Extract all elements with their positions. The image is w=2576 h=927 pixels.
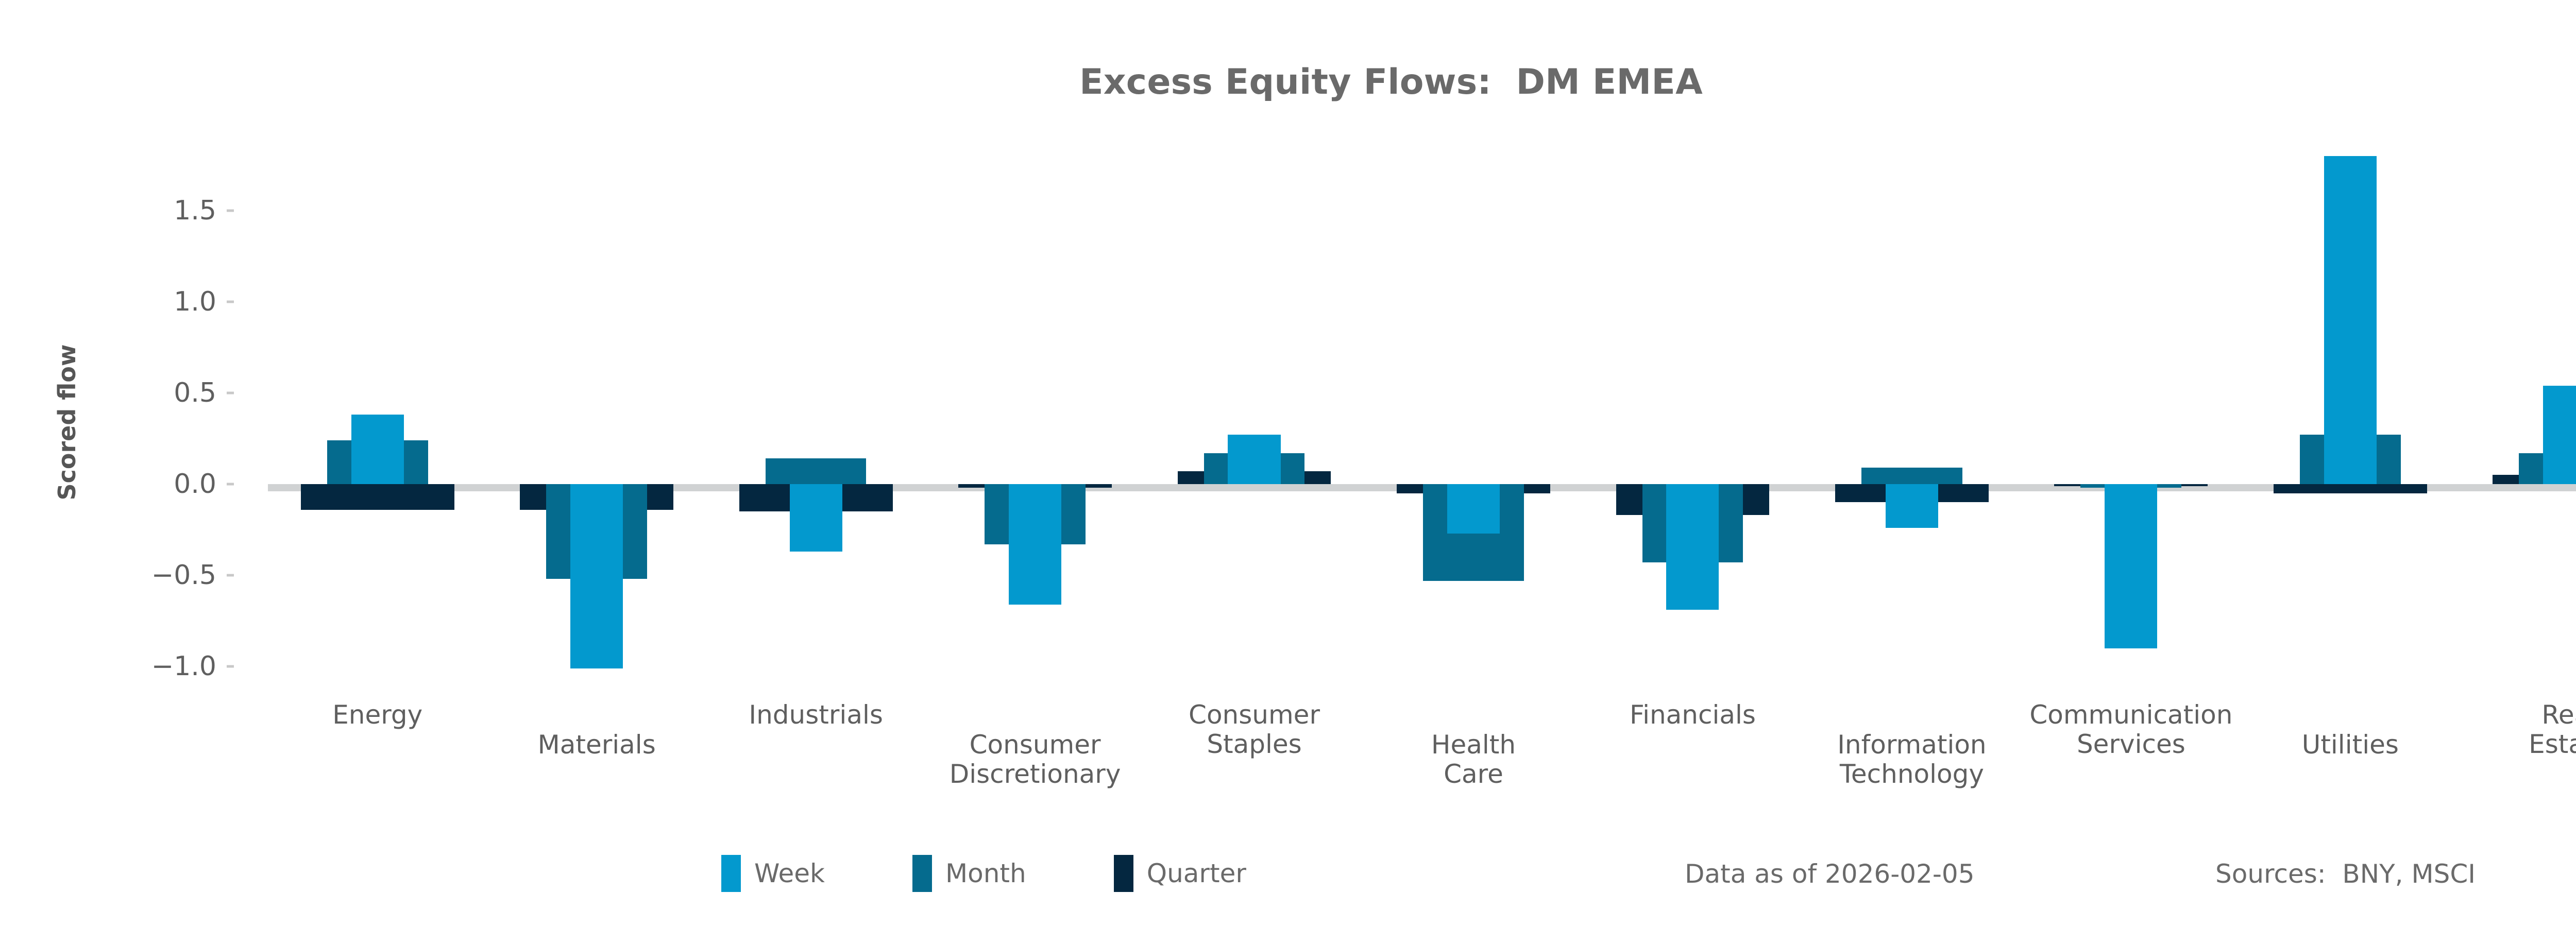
bar-week	[1009, 484, 1061, 605]
y-tick-label: 0.0	[88, 469, 216, 500]
y-axis-label: Scored flow	[53, 344, 81, 500]
bar-quarter	[2274, 484, 2427, 493]
legend-item-week[interactable]: Week	[721, 855, 825, 892]
bar-week	[1447, 484, 1500, 534]
bar-quarter	[301, 484, 454, 510]
x-tick-label: Materials	[538, 730, 656, 760]
bar-group	[487, 154, 706, 690]
y-tick-label: 1.0	[88, 286, 216, 317]
bar-week	[1666, 484, 1719, 610]
legend-swatch-icon	[721, 855, 741, 892]
x-tick-label: Information Technology	[1837, 730, 1986, 789]
data-as-of-note: Data as of 2026-02-05	[1685, 859, 1975, 889]
bar-week	[1886, 484, 1938, 528]
x-tick-label: Consumer Discretionary	[950, 730, 1121, 789]
chart-legend: WeekMonthQuarter	[721, 855, 1334, 892]
bar-week	[1228, 435, 1280, 484]
chart-figure: Excess Equity Flows: DM EMEA Scored flow…	[0, 0, 2576, 927]
bar-group	[925, 154, 1144, 690]
plot-area	[268, 154, 2576, 690]
bar-group	[2241, 154, 2460, 690]
legend-item-month[interactable]: Month	[912, 855, 1026, 892]
y-tick-label: −0.5	[88, 560, 216, 591]
sources-note: Sources: BNY, MSCI	[2215, 859, 2476, 889]
x-tick-label: Financials	[1630, 700, 1756, 730]
bar-month	[766, 458, 867, 484]
x-tick-label: Health Care	[1431, 730, 1516, 789]
bar-week	[790, 484, 842, 552]
chart-title: Excess Equity Flows: DM EMEA	[0, 62, 2576, 102]
y-tick-mark	[227, 210, 234, 212]
chart-footer: WeekMonthQuarter Data as of 2026-02-05 S…	[0, 855, 2576, 912]
bar-group	[2022, 154, 2241, 690]
legend-swatch-icon	[1114, 855, 1133, 892]
bar-week	[2324, 156, 2377, 484]
x-axis-tick-labels: EnergyMaterialsIndustrialsConsumer Discr…	[0, 700, 2576, 829]
bar-group	[706, 154, 925, 690]
legend-label: Month	[945, 859, 1026, 888]
y-tick-mark	[227, 665, 234, 668]
bar-week	[570, 484, 623, 668]
x-tick-label: Industrials	[749, 700, 883, 730]
y-tick-mark	[227, 301, 234, 303]
legend-swatch-icon	[912, 855, 932, 892]
y-tick-label: −1.0	[88, 651, 216, 682]
legend-label: Quarter	[1147, 859, 1246, 888]
bar-week	[2543, 386, 2576, 484]
y-tick-mark	[227, 483, 234, 486]
x-tick-label: Communication Services	[2029, 700, 2232, 759]
y-tick-label: 1.5	[88, 195, 216, 226]
x-tick-label: Real Estate	[2529, 700, 2576, 759]
bar-group	[1145, 154, 1364, 690]
y-tick-mark	[227, 574, 234, 577]
bar-group	[2460, 154, 2576, 690]
legend-item-quarter[interactable]: Quarter	[1114, 855, 1246, 892]
bar-group	[1802, 154, 2021, 690]
bar-group	[1583, 154, 1802, 690]
bar-group	[1364, 154, 1583, 690]
x-tick-label: Consumer Staples	[1189, 700, 1320, 759]
y-tick-mark	[227, 392, 234, 394]
bar-month	[1861, 468, 1962, 484]
bar-week	[2105, 484, 2157, 648]
x-tick-label: Energy	[332, 700, 422, 730]
x-tick-label: Utilities	[2302, 730, 2399, 760]
y-tick-label: 0.5	[88, 377, 216, 408]
legend-label: Week	[754, 859, 825, 888]
bar-week	[351, 415, 404, 484]
bar-group	[268, 154, 487, 690]
